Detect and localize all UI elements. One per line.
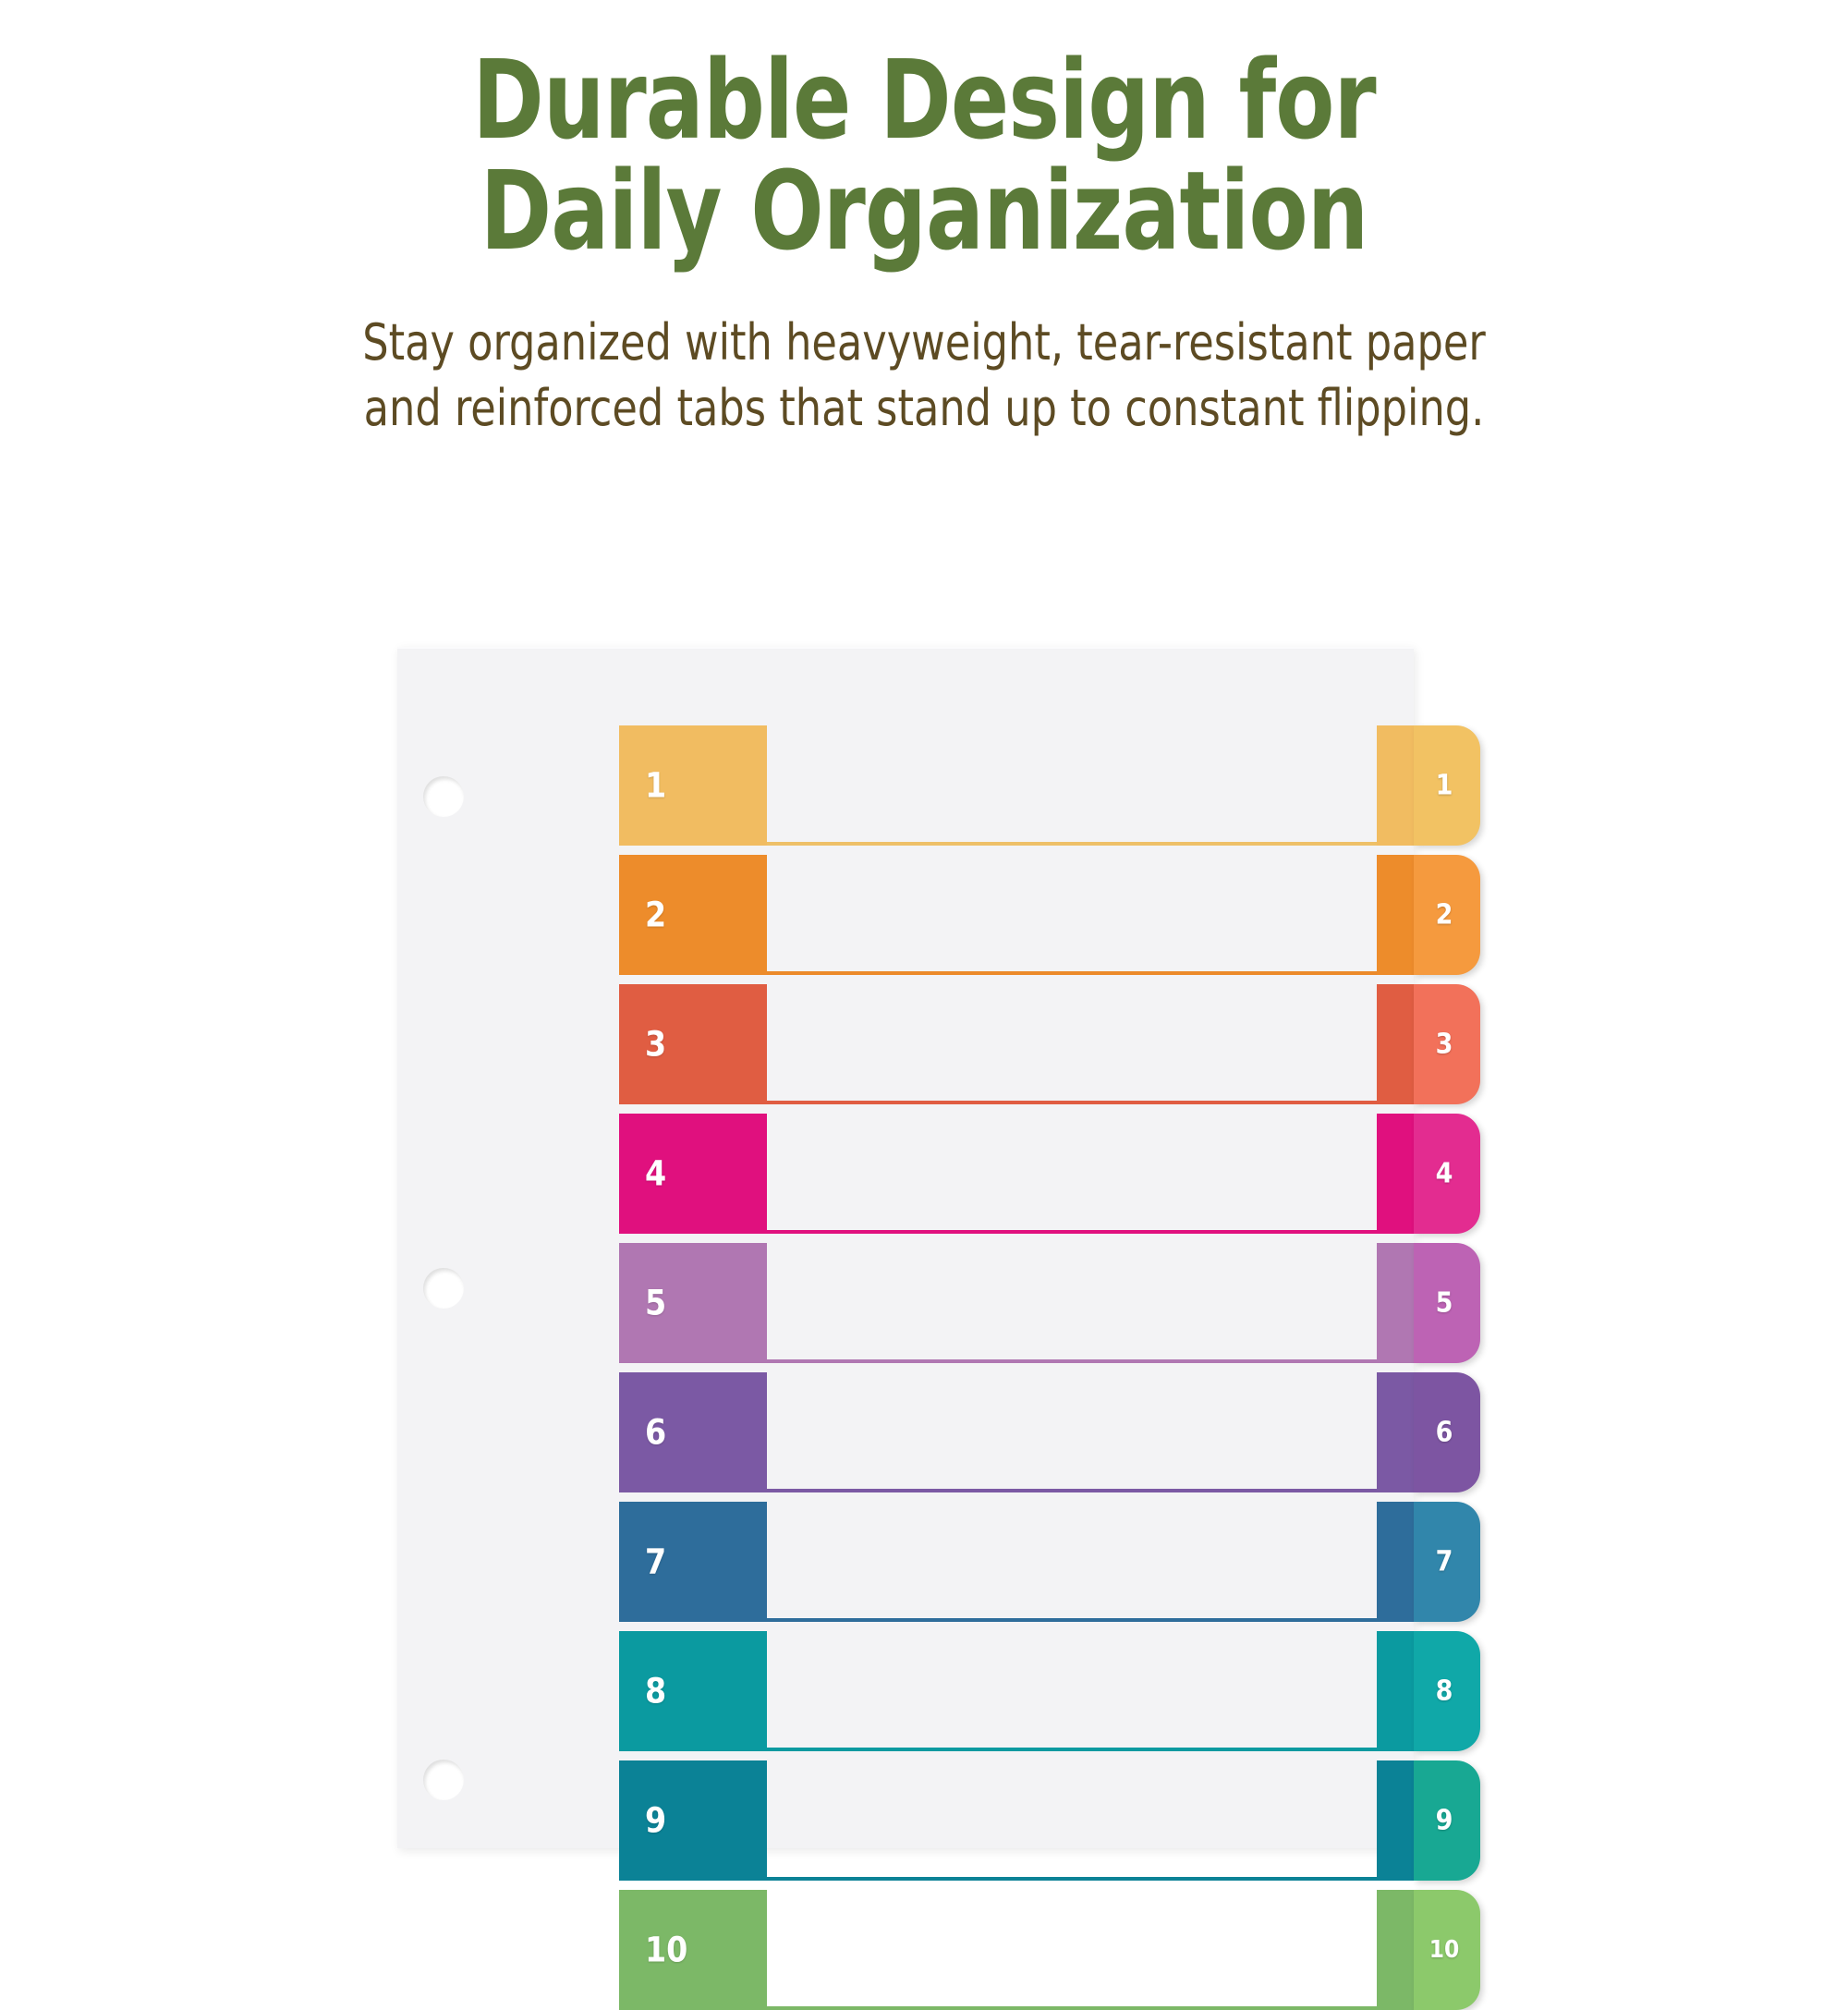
divider-edge-strip	[1377, 1372, 1414, 1492]
divider-row-number: 1	[645, 766, 666, 806]
divider-rule-line	[767, 971, 1414, 975]
divider-edge-strip	[1377, 1243, 1414, 1363]
divider-rule-line	[767, 2006, 1414, 2010]
divider-rule-line	[767, 1748, 1414, 1751]
divider-color-block: 10	[619, 1890, 767, 2010]
divider-edge-strip	[1377, 1890, 1414, 2010]
divider-edge-strip	[1377, 1502, 1414, 1622]
divider-tab[interactable]: 4	[1414, 1114, 1480, 1234]
headline-line-2: Daily Organization	[111, 155, 1737, 266]
divider-rule-line	[767, 842, 1414, 846]
header-block: Durable Design for Daily Organization St…	[0, 0, 1848, 441]
divider-tab[interactable]: 9	[1414, 1760, 1480, 1881]
divider-edge-strip	[1377, 1114, 1414, 1234]
divider-row: 10	[397, 1890, 1414, 2010]
divider-rule-line	[767, 1877, 1414, 1881]
divider-row: 1	[397, 725, 1414, 846]
divider-row: 3	[397, 984, 1414, 1104]
headline-line-1: Durable Design for	[111, 44, 1737, 155]
divider-row-number: 2	[645, 895, 666, 935]
divider-rule-line	[767, 1230, 1414, 1234]
divider-row: 8	[397, 1631, 1414, 1751]
paper-top-edge	[397, 647, 1414, 649]
divider-color-block: 3	[619, 984, 767, 1104]
divider-color-block: 1	[619, 725, 767, 846]
divider-tab[interactable]: 2	[1414, 855, 1480, 975]
subtitle-line-1: Stay organized with heavyweight, tear-re…	[74, 310, 1774, 375]
divider-tab[interactable]: 8	[1414, 1631, 1480, 1751]
divider-row-number: 4	[645, 1154, 666, 1194]
divider-rule-line	[767, 1359, 1414, 1363]
divider-color-block: 7	[619, 1502, 767, 1622]
divider-edge-strip	[1377, 1760, 1414, 1881]
divider-tab-number: 7	[1414, 1546, 1475, 1578]
page-subtitle: Stay organized with heavyweight, tear-re…	[74, 267, 1774, 442]
divider-tab[interactable]: 1	[1414, 725, 1480, 846]
divider-tab-number: 2	[1414, 899, 1475, 932]
divider-row-number: 8	[645, 1672, 666, 1712]
divider-row: 6	[397, 1372, 1414, 1492]
divider-row-number: 10	[645, 1931, 687, 1970]
divider-row-number: 7	[645, 1542, 666, 1582]
subtitle-line-2: and reinforced tabs that stand up to con…	[74, 375, 1774, 441]
divider-tab-number: 10	[1414, 1936, 1475, 1964]
divider-tab-number: 3	[1414, 1029, 1475, 1061]
divider-tab-number: 4	[1414, 1158, 1475, 1190]
divider-row: 2	[397, 855, 1414, 975]
divider-paper-sheet: 12345678910	[397, 647, 1414, 1848]
divider-tab-number: 8	[1414, 1675, 1475, 1708]
divider-rule-line	[767, 1101, 1414, 1104]
divider-color-block: 9	[619, 1760, 767, 1881]
divider-row-number: 3	[645, 1025, 666, 1065]
divider-tab[interactable]: 3	[1414, 984, 1480, 1104]
divider-color-block: 2	[619, 855, 767, 975]
divider-row-number: 6	[645, 1413, 666, 1453]
divider-edge-strip	[1377, 855, 1414, 975]
divider-row: 5	[397, 1243, 1414, 1363]
divider-color-block: 6	[619, 1372, 767, 1492]
divider-rule-line	[767, 1489, 1414, 1492]
divider-edge-strip	[1377, 725, 1414, 846]
product-image-divider-set: 12345678910 12345678910	[397, 647, 1414, 1848]
divider-tab[interactable]: 6	[1414, 1372, 1480, 1492]
divider-color-block: 5	[619, 1243, 767, 1363]
divider-tab-number: 6	[1414, 1417, 1475, 1449]
divider-edge-strip	[1377, 984, 1414, 1104]
divider-tab[interactable]: 7	[1414, 1502, 1480, 1622]
divider-row-number: 5	[645, 1284, 666, 1323]
divider-tab-number: 5	[1414, 1287, 1475, 1320]
divider-rule-line	[767, 1618, 1414, 1622]
divider-tab[interactable]: 5	[1414, 1243, 1480, 1363]
divider-row: 4	[397, 1114, 1414, 1234]
page-title: Durable Design for Daily Organization	[111, 0, 1737, 267]
divider-tab-number: 1	[1414, 770, 1475, 802]
divider-edge-strip	[1377, 1631, 1414, 1751]
divider-color-block: 4	[619, 1114, 767, 1234]
divider-row: 9	[397, 1760, 1414, 1881]
divider-tab[interactable]: 10	[1414, 1890, 1480, 2010]
divider-row: 7	[397, 1502, 1414, 1622]
divider-tab-number: 9	[1414, 1805, 1475, 1837]
divider-row-number: 9	[645, 1801, 666, 1841]
divider-color-block: 8	[619, 1631, 767, 1751]
